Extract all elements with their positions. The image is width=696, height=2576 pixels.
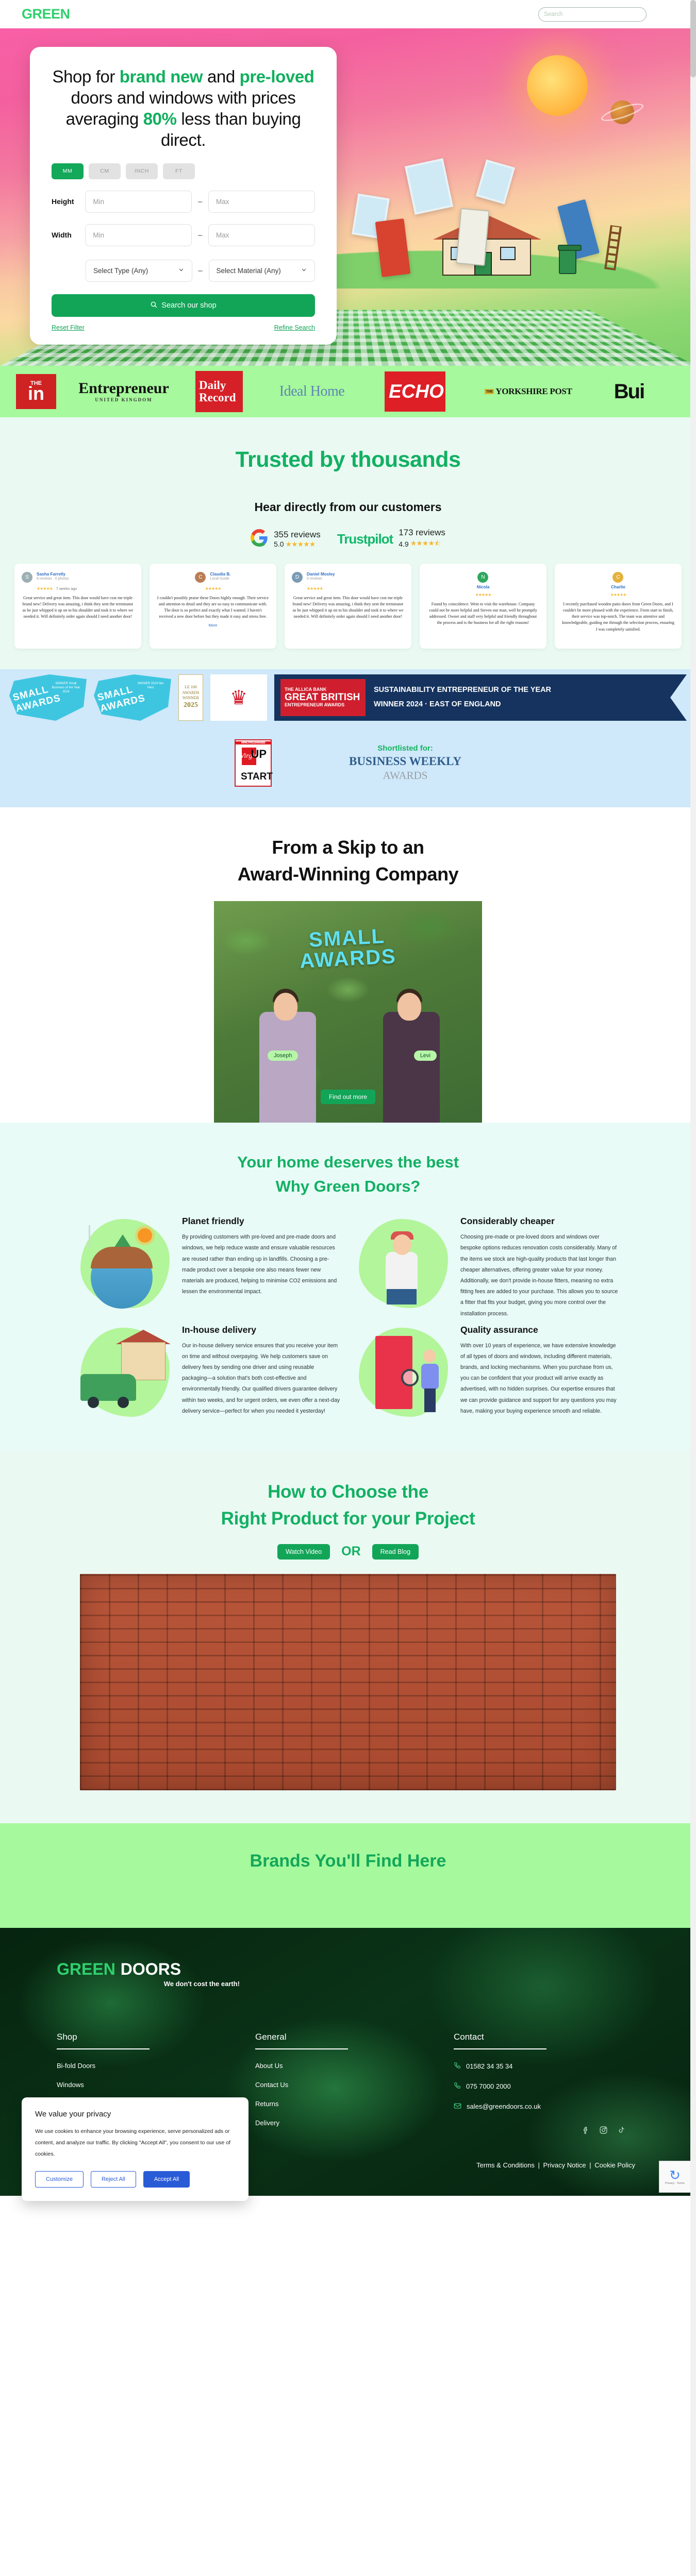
recaptcha-badge[interactable]: ↻ Privacy - Terms — [659, 2161, 691, 2193]
hero-heading: Shop for brand new and pre-loved doors a… — [52, 66, 315, 151]
cookie-reject-button[interactable]: Reject All — [91, 2171, 136, 2188]
person-illustration-icon — [356, 1216, 451, 1311]
award-kings-award: ♛ — [210, 674, 267, 721]
person-joseph — [250, 968, 327, 1123]
le100-line3: WINNER — [183, 696, 199, 701]
hero-section: Shop for brand new and pre-loved doors a… — [0, 28, 696, 366]
footer-column-contact: Contact 01582 34 35 34 075 7000 2000 sal… — [454, 2032, 652, 2138]
hero-heading-preloved: pre-loved — [240, 67, 314, 86]
feature-title: In-house delivery — [182, 1325, 340, 1336]
avatar: N — [477, 572, 488, 583]
nav-item-shop[interactable]: Shop — [144, 10, 160, 18]
award-le100: LE 100 AWARDS WINNER 2025 — [178, 674, 203, 721]
brands-section: Brands You'll Find Here — [0, 1823, 696, 1928]
reviewer-name: Daniel Mosley — [307, 572, 335, 577]
features-title-line2: Why Green Doors? — [0, 1175, 696, 1199]
width-max-input[interactable] — [208, 224, 315, 246]
avatar: C — [612, 572, 623, 583]
howto-title-line2: Right Product for your Project — [0, 1505, 696, 1533]
phone-icon — [454, 2082, 461, 2091]
crown-icon: ♛ — [230, 686, 247, 709]
footer-socials — [581, 2125, 626, 2135]
height-label: Height — [52, 197, 85, 206]
review-body: Great service and great item. This door … — [22, 595, 134, 620]
reviewer-sub: 5 reviews — [307, 577, 335, 581]
press-record-label: Record — [199, 392, 243, 404]
features-title: Your home deserves the best Why Green Do… — [0, 1150, 696, 1198]
press-logo-entrepreneur: Entrepreneur UNITED KINGDOM — [72, 366, 175, 417]
features-section: Your home deserves the best Why Green Do… — [0, 1123, 696, 1450]
footer-email-text: sales@greendoors.co.uk — [467, 2103, 541, 2110]
chevron-down-icon — [301, 266, 307, 275]
filter-links: Reset Filter Refine Search — [52, 324, 315, 331]
review-body: Found by coincidence. Went to visit the … — [427, 601, 539, 626]
virgin-start-label: START — [241, 771, 273, 783]
press-logo-yorkshire-post: THE YORKSHIRE POST — [469, 366, 588, 417]
search-shop-button[interactable]: Search our shop — [52, 294, 315, 317]
trustpilot-reviews-count: 173 reviews — [399, 528, 445, 538]
unit-mm[interactable]: MM — [52, 163, 84, 179]
footer-phone-2[interactable]: 075 7000 2000 — [454, 2082, 652, 2091]
press-logo-echo: ECHO — [361, 366, 469, 417]
press-ideal-home-label: Ideal Home — [279, 383, 344, 400]
review-stars: ★★★★★ — [475, 592, 491, 597]
width-dash: – — [192, 231, 208, 240]
press-yp-the: THE — [485, 389, 494, 394]
story-title-line1: From a Skip to an — [0, 834, 696, 861]
recaptcha-label: Privacy - Terms — [665, 2182, 685, 2185]
find-out-more-button[interactable]: Find out more — [321, 1090, 375, 1104]
terms-conditions-link[interactable]: Terms & Conditions — [476, 2161, 535, 2169]
review-stars: ★★★★★ — [37, 586, 53, 591]
select-material-dropdown[interactable]: Select Material (Any) — [209, 260, 316, 282]
footer-link-delivery[interactable]: Delivery — [255, 2119, 454, 2127]
allica-line-b: GREAT BRITISH — [285, 692, 361, 703]
height-filter-row: Height – — [52, 191, 315, 213]
avatar: D — [292, 572, 303, 583]
reviewer-name: Claudia B. — [210, 572, 230, 577]
bw-shortlisted-label: Shortlisted for: — [349, 744, 461, 753]
footer-link-about-us[interactable]: About Us — [255, 2062, 454, 2070]
floating-door-white — [456, 208, 489, 266]
features-title-line1: Your home deserves the best — [0, 1150, 696, 1175]
legal-separator-2: | — [589, 2161, 591, 2169]
video-thumbnail[interactable] — [80, 1574, 616, 1790]
le100-line2: AWARDS — [182, 690, 199, 696]
footer-email[interactable]: sales@greendoors.co.uk — [454, 2102, 652, 2111]
cookie-body: We use cookies to enhance your browsing … — [35, 2126, 235, 2160]
recaptcha-icon: ↻ — [669, 2168, 681, 2182]
hero-heading-brandnew: brand new — [120, 67, 203, 86]
select-type-value: Select Type (Any) — [93, 267, 148, 275]
cart-bag-icon[interactable] — [671, 9, 680, 19]
search-icon — [150, 301, 157, 310]
award-virgin-startup: IMPACT PROGRAM 2023 Virgin UP START — [235, 739, 272, 787]
feature-title: Quality assurance — [460, 1325, 619, 1336]
footer-column-title: Contact — [454, 2032, 652, 2048]
avatar: C — [195, 572, 206, 583]
awards-section: SMALL AWARDS WINNER Small Business of th… — [0, 669, 696, 807]
type-material-dash: – — [192, 266, 209, 275]
chevron-down-icon — [178, 266, 185, 275]
reviewer-name: Sasha Farrelly — [37, 572, 69, 577]
footer-column-title: Shop — [57, 2032, 255, 2048]
name-label-levi: Levi — [414, 1050, 437, 1061]
search-input[interactable] — [544, 11, 629, 18]
earth-illustration-icon — [77, 1216, 173, 1311]
review-body: I couldn't possibly praise these Doors h… — [157, 595, 269, 620]
page-scrollbar[interactable] — [690, 0, 696, 2576]
allica-line-c: ENTREPRENEUR AWARDS — [285, 703, 361, 708]
feature-title: Planet friendly — [182, 1216, 340, 1227]
review-card: N Nicola ★★★★★ Found by coincidence. Wen… — [420, 564, 546, 649]
review-stars: ★★★★★ — [610, 592, 626, 597]
awards-row-2: IMPACT PROGRAM 2023 Virgin UP START Shor… — [0, 739, 696, 787]
site-logo[interactable]: GREEN DOORS — [22, 6, 124, 22]
press-daily-label: Daily — [199, 379, 243, 392]
unit-toggle-group: MM CM INCH FT — [52, 163, 315, 179]
reset-filter-link[interactable]: Reset Filter — [52, 324, 85, 331]
press-yp-label: YORKSHIRE POST — [495, 386, 572, 397]
feature-body: By providing customers with pre-loved an… — [182, 1232, 340, 1297]
trustpilot-logo: Trustpilot — [337, 531, 393, 547]
nav-item-donate-sell[interactable]: Donate / Sell — [174, 10, 214, 18]
door-inspect-illustration-icon — [356, 1325, 451, 1420]
story-section: From a Skip to an Award-Winning Company … — [0, 807, 696, 1123]
or-separator: OR — [341, 1544, 361, 1559]
press-logo-ideal-home: Ideal Home — [263, 366, 361, 417]
bw-awards-label: AWARDS — [349, 769, 461, 782]
award-allica-bank: THE ALLICA BANK GREAT BRITISH ENTREPRENE… — [274, 674, 687, 721]
review-stars: ★★★★★ — [307, 586, 323, 591]
small-awards-sub: WINNER Small Business of the Year 2024 — [49, 682, 82, 694]
select-material-value: Select Material (Any) — [217, 267, 281, 275]
google-reviews-count: 355 reviews — [274, 530, 321, 540]
height-max-input[interactable] — [208, 191, 315, 213]
cookie-actions: Customize Reject All Accept All — [35, 2171, 235, 2188]
award-small-awards-2: SMALL AWARDS WINNER 2024 Net Hero — [94, 674, 171, 721]
footer-logo-doors: DOORS — [121, 1960, 181, 1979]
google-icon — [251, 529, 268, 549]
feature-title: Considerably cheaper — [460, 1216, 619, 1227]
hero-search-card: Shop for brand new and pre-loved doors a… — [30, 47, 337, 345]
review-time: 7 weeks ago — [56, 586, 77, 591]
press-logo-build: Bui — [588, 366, 670, 417]
footer-logo-green: GREEN — [57, 1960, 115, 1979]
google-rating[interactable]: 355 reviews 5.0 ★★★★★ — [251, 529, 321, 549]
header-actions — [538, 7, 680, 22]
feature-body: Our in-house delivery service ensures th… — [182, 1341, 340, 1417]
footer-link-contact-us[interactable]: Contact Us — [255, 2081, 454, 2089]
howto-actions: Watch Video OR Read Blog — [0, 1544, 696, 1560]
press-logo-daily-record: Daily Record — [175, 366, 263, 417]
cookie-title: We value your privacy — [35, 2110, 235, 2119]
review-card: S Sasha Farrelly 8 reviews · 0 photos ★★… — [14, 564, 141, 649]
footer-link-returns[interactable]: Returns — [255, 2100, 454, 2108]
hero-heading-part4: less than buying direct. — [161, 109, 301, 149]
review-body: Great service and great item. This door … — [292, 595, 404, 620]
google-stars: ★★★★★ — [286, 540, 316, 549]
wishlist-heart-icon[interactable] — [654, 9, 664, 19]
search-shop-label: Search our shop — [161, 301, 216, 310]
sun-graphic — [527, 55, 588, 116]
award-small-awards-1: SMALL AWARDS WINNER Small Business of th… — [9, 674, 87, 721]
unit-cm[interactable]: CM — [89, 163, 121, 179]
award-business-weekly: Shortlisted for: BUSINESS WEEKLY AWARDS — [349, 744, 461, 782]
story-title-line2: Award-Winning Company — [0, 861, 696, 888]
press-logo-the-sun: THE in — [0, 366, 72, 417]
reviewer-name: Charlie — [611, 585, 625, 589]
brands-title: Brands You'll Find Here — [0, 1851, 696, 1871]
review-stars: ★★★★★ — [205, 586, 221, 591]
trusted-section: Trusted by thousands Hear directly from … — [0, 417, 696, 669]
height-min-input[interactable] — [85, 191, 192, 213]
review-card: C Charlie ★★★★★ I recently purchased woo… — [555, 564, 682, 649]
footer-phone-1-text: 01582 34 35 34 — [466, 2062, 512, 2070]
type-material-row: Select Type (Any) – Select Material (Any… — [52, 260, 315, 282]
how-to-choose-section: How to Choose the Right Product for your… — [0, 1451, 696, 1823]
feature-card-in-house-delivery: In-house delivery Our in-house delivery … — [77, 1325, 340, 1420]
floating-window-3 — [476, 159, 515, 204]
footer-phone-1[interactable]: 01582 34 35 34 — [454, 2062, 652, 2071]
logo-doors-text: DOORS — [75, 6, 125, 22]
nav-item-delivery[interactable]: Delivery — [228, 10, 254, 18]
logo-green-text: GREEN — [22, 6, 70, 22]
press-entrepreneur-label: Entrepreneur — [78, 380, 169, 397]
avatar: S — [22, 572, 32, 583]
footer-legal-links: Terms & Conditions | Privacy Notice | Co… — [476, 2161, 635, 2169]
facebook-icon[interactable] — [581, 2125, 590, 2135]
trustpilot-score: 4.9 — [399, 540, 408, 548]
height-dash: – — [192, 197, 208, 206]
trusted-title: Trusted by thousands — [0, 447, 696, 472]
unit-ft[interactable]: FT — [163, 163, 195, 179]
person-levi — [374, 968, 451, 1123]
footer-link-windows[interactable]: Windows — [57, 2081, 255, 2089]
allica-award-line2: WINNER 2024 · EAST OF ENGLAND — [374, 698, 551, 712]
search-icon[interactable] — [632, 10, 640, 18]
feature-card-planet-friendly: Planet friendly By providing customers w… — [77, 1216, 340, 1319]
refine-search-link[interactable]: Refine Search — [274, 324, 315, 331]
privacy-notice-link[interactable]: Privacy Notice — [543, 2161, 586, 2169]
cookie-policy-link[interactable]: Cookie Policy — [594, 2161, 635, 2169]
le100-year: 2025 — [184, 701, 198, 710]
feature-card-quality-assurance: Quality assurance With over 10 years of … — [356, 1325, 619, 1420]
small-awards-sub: WINNER 2024 Net Hero — [134, 682, 167, 690]
reviews-list: S Sasha Farrelly 8 reviews · 0 photos ★★… — [0, 550, 696, 669]
trustpilot-rating[interactable]: Trustpilot 173 reviews 4.9 ★★★★⯪ — [337, 528, 445, 550]
awards-row-1: SMALL AWARDS WINNER Small Business of th… — [0, 674, 696, 721]
press-bui-label: Bui — [614, 380, 644, 403]
cookie-customize-button[interactable]: Customize — [35, 2171, 84, 2188]
nav-item-help[interactable]: Help — [341, 10, 355, 18]
review-body: I recently purchased wooden patio doors … — [562, 601, 674, 633]
legal-separator-1: | — [538, 2161, 540, 2169]
watch-video-button[interactable]: Watch Video — [277, 1544, 330, 1560]
van-illustration-icon — [77, 1325, 173, 1420]
nav-item-about[interactable]: About Green Doors — [267, 10, 327, 18]
footer-column-general: General About Us Contact Us Returns Deli… — [255, 2032, 454, 2138]
select-type-dropdown[interactable]: Select Type (Any) — [86, 260, 192, 282]
trusted-subtitle: Hear directly from our customers — [0, 500, 696, 514]
feature-body: Choosing pre-made or pre-loved doors and… — [460, 1232, 619, 1319]
hero-heading-part2: and — [203, 67, 239, 86]
le100-line1: LE 100 — [185, 685, 197, 690]
unit-inch[interactable]: INCH — [126, 163, 158, 179]
mail-icon — [454, 2102, 461, 2111]
press-echo-label: ECHO — [385, 371, 445, 412]
allica-award-line1: SUSTAINABILITY ENTREPRENEUR OF THE YEAR — [374, 683, 551, 698]
read-blog-button[interactable]: Read Blog — [372, 1544, 419, 1560]
hero-heading-80: 80% — [143, 109, 177, 128]
tiktok-icon[interactable] — [617, 2125, 626, 2135]
reviewer-sub: Local Guide — [210, 577, 230, 581]
cookie-accept-button[interactable]: Accept All — [143, 2171, 190, 2188]
reviewer-name: Nicola — [477, 585, 490, 589]
footer-link-bifold-doors[interactable]: Bi-fold Doors — [57, 2062, 255, 2070]
phone-icon — [454, 2062, 461, 2071]
footer-column-title: General — [255, 2032, 454, 2048]
site-header: GREEN DOORS Shop Donate / Sell Delivery … — [0, 0, 696, 28]
trustpilot-stars: ★★★★⯪ — [410, 538, 440, 550]
ratings-row: 355 reviews 5.0 ★★★★★ Trustpilot 173 rev… — [0, 528, 696, 550]
reviewer-sub: 8 reviews · 0 photos — [37, 577, 69, 581]
feature-card-considerably-cheaper: Considerably cheaper Choosing pre-made o… — [356, 1216, 619, 1319]
press-in-label: in — [28, 386, 44, 402]
virgin-top-label: IMPACT PROGRAM 2023 — [236, 741, 271, 744]
width-min-input[interactable] — [85, 224, 192, 246]
bw-name-label: BUSINESS WEEKLY — [349, 755, 461, 768]
press-entrepreneur-sub: UNITED KINGDOM — [78, 398, 169, 402]
google-score: 5.0 — [274, 540, 284, 548]
press-logos-strip: THE in Entrepreneur UNITED KINGDOM Daily… — [0, 366, 696, 417]
main-nav: Shop Donate / Sell Delivery About Green … — [144, 10, 355, 18]
width-label: Width — [52, 231, 85, 239]
recycling-bin-graphic — [559, 247, 576, 274]
hero-heading-part1: Shop for — [52, 67, 119, 86]
footer-phone-2-text: 075 7000 2000 — [466, 2082, 511, 2090]
howto-title: How to Choose the Right Product for your… — [0, 1479, 696, 1533]
site-footer: GREEN DOORS We don't cost the earth! Sho… — [0, 1928, 696, 2196]
howto-title-line1: How to Choose the — [0, 1479, 696, 1506]
footer-tagline: We don't cost the earth! — [57, 1980, 240, 1988]
virgin-up-label: UP — [251, 748, 267, 761]
name-label-joseph: Joseph — [268, 1050, 298, 1061]
story-title: From a Skip to an Award-Winning Company — [0, 834, 696, 888]
review-card: C Claudia B. Local Guide ★★★★★ I couldn'… — [150, 564, 276, 649]
feature-body: With over 10 years of experience, we hav… — [460, 1341, 619, 1417]
width-filter-row: Width – — [52, 224, 315, 246]
floating-window-1 — [405, 158, 453, 215]
review-more-link[interactable]: More — [157, 623, 269, 628]
review-card: D Daniel Mosley 5 reviews ★★★★★ Great se… — [285, 564, 411, 649]
cookie-consent-banner: We value your privacy We use cookies to … — [22, 2097, 248, 2201]
story-photo: SMALL AWARDS Joseph Levi Find out more — [214, 901, 482, 1123]
instagram-icon[interactable] — [599, 2125, 608, 2135]
header-search[interactable] — [538, 7, 647, 22]
features-grid: Planet friendly By providing customers w… — [0, 1198, 696, 1419]
footer-logo[interactable]: GREEN DOORS We don't cost the earth! — [57, 1960, 696, 1988]
scrollbar-thumb[interactable] — [690, 0, 696, 77]
